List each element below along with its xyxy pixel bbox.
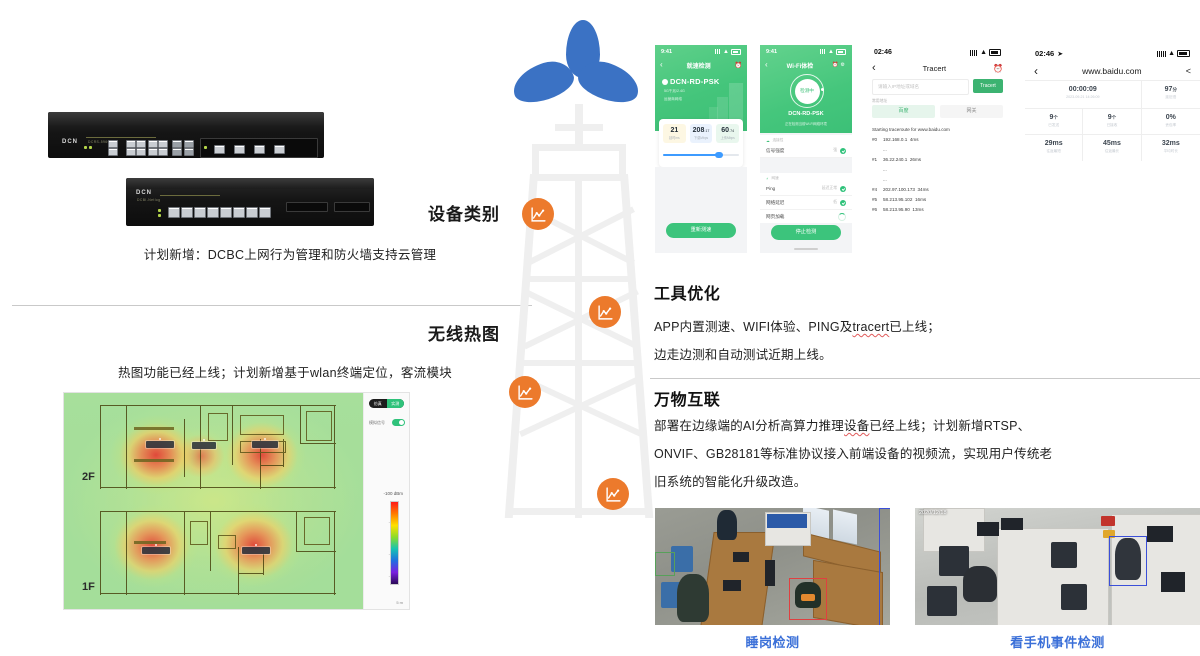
cctv-image-sleep-detection xyxy=(655,508,890,625)
iot-line1-c: 已经上线；计划新增RTSP、 xyxy=(869,419,1030,433)
ethernet-port xyxy=(168,207,180,218)
phone-ping-result: 02:46 ➤ ▲ ‹ www.baidu.com < 00:00:09 202… xyxy=(1025,45,1200,210)
wall xyxy=(300,405,301,443)
wall xyxy=(126,405,127,489)
cell-value: 32ms xyxy=(1142,140,1200,147)
status-icons: ▲ xyxy=(1157,50,1190,57)
nav-actions[interactable]: ⏰⚙ xyxy=(832,62,847,68)
result-cell-avg: 32ms 平均时长 xyxy=(1142,135,1200,161)
left-column: DCN DCRS-5960-28T DCN DCBI-Netlog xyxy=(0,0,545,656)
result-cell-sent: 9个 已发送 xyxy=(1025,109,1083,135)
status-led xyxy=(158,209,161,212)
signal-strength-legend-bar xyxy=(390,501,399,585)
furniture xyxy=(134,541,166,544)
device-top-edge xyxy=(48,112,324,126)
tools-line1-tracert: tracert xyxy=(852,320,889,334)
scan-progress-ring: 检测中 xyxy=(790,74,824,108)
wall xyxy=(100,405,101,489)
line-chart-icon xyxy=(530,206,547,223)
preset-tab-baidu[interactable]: 百度 xyxy=(872,105,935,118)
signal-bars-icon xyxy=(820,49,826,54)
result-cell-duration: 00:00:09 2023-09-21 14:26:09 xyxy=(1025,81,1142,109)
toggle-label: 模拟信号 xyxy=(369,420,385,426)
result-cell-loss: 0% 丢包率 xyxy=(1142,109,1200,135)
legend-tick: - xyxy=(389,551,390,556)
line-chart-badge xyxy=(589,296,621,328)
ethernet-port xyxy=(126,148,136,156)
detection-box-green xyxy=(655,552,675,576)
device-model-label: DCBI-Netlog xyxy=(137,198,160,202)
tracert-hop-row: #4202.97.100.173 34ms xyxy=(872,185,1003,195)
monitor xyxy=(723,580,741,591)
battery-icon xyxy=(1177,50,1190,57)
stat-card-latency: 21 延时ms xyxy=(663,124,686,143)
status-led xyxy=(89,146,92,149)
room-outline xyxy=(190,521,208,545)
poster xyxy=(767,514,807,528)
legend-max-label: -100 dBm xyxy=(383,491,403,496)
history-icon[interactable]: ⏰ xyxy=(993,64,1003,73)
gear-icon[interactable]: ⚙ xyxy=(841,62,847,68)
battery-icon xyxy=(989,49,1001,56)
row-label: 信号强度 xyxy=(766,148,784,154)
cell-sub: 已发送 xyxy=(1025,123,1082,128)
home-indicator xyxy=(794,248,818,250)
row-value: 强 xyxy=(833,148,837,153)
stat-label: 下载Mbps xyxy=(690,135,713,140)
cell-sub: 已接收 xyxy=(1083,123,1140,128)
iot-line1-a: 部署在边缘端的AI分析高算力推理 xyxy=(654,419,844,433)
status-bar: 9:41 ▲ xyxy=(760,45,852,58)
tracert-hop-row: #0192.168.0.1 4ms xyxy=(872,135,1003,145)
row-value: 延迟正常 xyxy=(822,186,837,191)
list-item[interactable]: Ping 延迟正常 xyxy=(760,182,852,196)
group-header-label: 网速 xyxy=(772,176,779,181)
detection-box-red xyxy=(789,578,827,620)
iot-section-title: 万物互联 xyxy=(654,386,720,410)
legend-tick: - xyxy=(389,573,390,578)
cell-sub: 2023-09-21 14:26:09 xyxy=(1025,95,1141,99)
stop-test-button[interactable]: 停止检测 xyxy=(771,225,841,240)
line-chart-icon xyxy=(517,384,534,401)
tracert-hop-row: #558.213.95.102 16ms xyxy=(872,195,1003,205)
tools-line1-a: APP内置测速、WIFI体验、PING及 xyxy=(654,320,852,334)
legend-tick: - xyxy=(389,519,390,524)
loading-spinner-icon xyxy=(838,213,846,221)
monitor xyxy=(1147,526,1173,542)
battery-icon xyxy=(731,49,741,55)
cctv-timestamp: 2020/12/18 xyxy=(919,510,947,516)
status-time: 9:41 xyxy=(766,49,777,55)
list-item[interactable]: 网络延迟 低 xyxy=(760,196,852,210)
row-value-group: 低 xyxy=(833,200,846,206)
cell-tower-graphic xyxy=(500,8,665,523)
signal-bars-icon xyxy=(1157,51,1166,57)
wall xyxy=(184,511,185,595)
wall xyxy=(300,443,336,444)
simulated-signal-toggle[interactable] xyxy=(392,419,405,426)
status-bar: 02:46 ➤ ▲ xyxy=(1025,45,1200,62)
group-header: ⚡ 网速 xyxy=(760,173,852,182)
row-value: 低 xyxy=(833,200,837,205)
device-top-edge xyxy=(126,178,374,189)
monitor xyxy=(1001,518,1023,530)
signal-bars-icon xyxy=(970,50,978,56)
furniture xyxy=(134,459,174,462)
line-chart-icon xyxy=(605,486,622,503)
tools-section-line-2: 边走边测和自动测试近期上线。 xyxy=(654,341,1199,369)
cell-sub: 丢包率 xyxy=(1142,123,1200,128)
nav-bar: ‹ www.baidu.com < xyxy=(1025,62,1200,80)
module-port xyxy=(274,145,285,154)
result-cell-score: 97分 延迟低 xyxy=(1142,81,1200,109)
device-divider xyxy=(160,195,220,196)
stat-card-upload: 60.74 上传Mbps xyxy=(716,124,739,143)
person xyxy=(677,574,709,622)
segment-measured[interactable]: 实测 xyxy=(387,399,405,408)
heatmap-mode-segmented-control[interactable]: 仿真 实测 xyxy=(369,399,404,408)
ap-marker xyxy=(146,441,174,448)
stat-value: 21 xyxy=(663,127,686,134)
stat-card-download: 208.17 下载Mbps xyxy=(690,124,713,143)
wall xyxy=(100,487,336,488)
ethernet-port xyxy=(158,148,168,156)
ssid-sub-1: 5G千兆/2.4G xyxy=(664,89,685,94)
ethernet-port xyxy=(181,207,193,218)
sfp-port xyxy=(184,140,194,148)
group-connectivity: ☁ 连接性 信号强度 强 xyxy=(760,135,852,158)
back-chevron-icon[interactable]: ‹ xyxy=(765,61,768,69)
monitor xyxy=(977,522,999,536)
wall xyxy=(126,511,127,595)
wifi-status-dot-icon xyxy=(662,79,668,85)
check-ok-icon xyxy=(840,200,846,206)
wall xyxy=(100,511,336,512)
office-chair xyxy=(1051,542,1077,568)
sfp-port xyxy=(184,148,194,156)
nav-title: Wi-Fi体检 xyxy=(787,61,814,70)
cell-value: 0% xyxy=(1142,114,1200,121)
connectivity-icon: ☁ xyxy=(766,139,770,143)
nav-title: www.baidu.com xyxy=(1082,66,1142,76)
list-item[interactable]: 信号强度 强 xyxy=(760,144,852,158)
group-header-label: 连接性 xyxy=(773,138,784,143)
segment-simulated[interactable]: 仿真 xyxy=(369,399,387,408)
iot-section-line-2: ONVIF、GB28181等标准协议接入前端设备的视频流，实现用户传统老 xyxy=(654,440,1199,468)
retest-button[interactable]: 重新测速 xyxy=(666,223,736,238)
sfp-port xyxy=(172,148,182,156)
simulated-signal-toggle-row[interactable]: 模拟信号 xyxy=(369,419,405,426)
tools-line1-c: 已上线； xyxy=(889,320,940,334)
ethernet-port xyxy=(158,140,168,148)
right-column: 9:41 ▲ ‹ 就速检测 ⏰ DCN-RD-PSK 5G千兆/2.4G 运营商… xyxy=(650,0,1200,656)
preset-label: 常用地址 xyxy=(865,95,1010,105)
heatmap-section-body: 热图功能已经上线；计划新增基于wlan终端定位，客流模块 xyxy=(50,362,520,381)
wall xyxy=(100,511,101,595)
room-outline xyxy=(218,535,236,549)
phone-tracert: 02:46 ▲ ‹ Tracert ⏰ 请输入IP地址或域名 Tracert 常… xyxy=(865,45,1010,253)
tracert-target-input[interactable]: 请输入IP地址或域名 xyxy=(872,79,969,95)
result-cell-max: 45ms 往返最长 xyxy=(1083,135,1141,161)
ap-marker xyxy=(242,547,270,554)
cell-sub: 延迟低 xyxy=(1142,95,1200,100)
tracert-hop-row: ... xyxy=(872,145,1003,155)
section-divider xyxy=(12,305,532,306)
result-cell-min: 29ms 往返最短 xyxy=(1025,135,1083,161)
stat-value: 60.74 xyxy=(716,127,739,134)
ssid-sub-2: 运营商网络 xyxy=(664,97,682,102)
nav-bar: ‹ 就速检测 ⏰ xyxy=(655,58,747,72)
wall xyxy=(210,511,211,571)
heatmap-section-title: 无线热图 xyxy=(200,320,500,345)
office-chair xyxy=(1061,584,1087,610)
status-led xyxy=(158,214,161,217)
tower-base xyxy=(510,508,650,515)
tower-horizontal xyxy=(524,276,632,282)
ethernet-port xyxy=(148,148,158,156)
monitor xyxy=(1161,572,1185,592)
row-value-group: 延迟正常 xyxy=(822,186,846,192)
cell-value: 97分 xyxy=(1142,86,1200,93)
row-value-group: 强 xyxy=(833,148,846,154)
status-icons: ▲ xyxy=(715,49,741,55)
wifi-icon: ▲ xyxy=(1168,51,1175,57)
wall xyxy=(260,465,284,466)
nav-title: 就速检测 xyxy=(687,61,711,70)
line-chart-badge xyxy=(597,478,629,510)
module-led xyxy=(204,146,207,149)
tracert-run-button[interactable]: Tracert xyxy=(973,79,1003,93)
device-section-body: 计划新增：DCBC上网行为管理和防火墙支持云管理 xyxy=(60,244,520,263)
ethernet-port xyxy=(136,148,146,156)
tracert-hop-row: #136.22.240.1 26ms xyxy=(872,155,1003,165)
detection-box-blue xyxy=(879,508,890,625)
speed-slider[interactable] xyxy=(663,152,739,158)
ssid-sub: 正在检测当前Wi-Fi网络环境 xyxy=(760,121,852,126)
network-switch-photo-top: DCN DCRS-5960-28T xyxy=(48,112,324,158)
signal-bars-icon xyxy=(715,49,721,54)
status-icons: ▲ xyxy=(970,49,1001,56)
floorplan-1f xyxy=(100,511,336,595)
cell-sub: 往返最短 xyxy=(1025,149,1082,154)
sfp-port xyxy=(172,140,182,148)
history-icon[interactable]: ⏰ xyxy=(832,62,840,68)
nav-title: Tracert xyxy=(923,64,946,73)
ethernet-port xyxy=(126,140,136,148)
wall xyxy=(334,511,335,595)
line-chart-icon xyxy=(597,304,614,321)
section-divider xyxy=(650,378,1200,379)
iot-section-line-1: 部署在边缘端的AI分析高算力推理设备已经上线；计划新增RTSP、 xyxy=(654,412,1199,440)
line-chart-badge xyxy=(522,198,554,230)
monitor xyxy=(733,552,749,562)
row-label: Ping xyxy=(766,186,775,191)
cell-sub: 平均时长 xyxy=(1142,149,1200,154)
caption-sleep-detection: 睡岗检测 xyxy=(655,632,890,651)
heatmap-side-panel: 仿真 实测 模拟信号 -100 dBm - - - 5 m xyxy=(363,393,409,609)
stat-value: 208.17 xyxy=(690,127,713,134)
phone-speedtest: 9:41 ▲ ‹ 就速检测 ⏰ DCN-RD-PSK 5G千兆/2.4G 运营商… xyxy=(655,45,747,253)
ap-marker xyxy=(142,547,170,554)
result-cell-received: 9个 已接收 xyxy=(1083,109,1141,135)
ethernet-port xyxy=(136,140,146,148)
ethernet-port xyxy=(108,140,118,148)
line-chart-badge xyxy=(509,376,541,408)
status-led xyxy=(84,146,87,149)
back-chevron-icon[interactable]: ‹ xyxy=(1034,67,1038,75)
location-arrow-icon: ➤ xyxy=(1057,50,1063,58)
ap-marker xyxy=(252,441,278,448)
tools-section-line-1: APP内置测速、WIFI体验、PING及tracert已上线； xyxy=(654,313,1199,341)
status-time: 9:41 xyxy=(661,49,672,55)
speed-icon: ⚡ xyxy=(766,177,769,181)
cell-value: 9个 xyxy=(1025,114,1082,121)
row-label: 网页加载 xyxy=(766,214,784,220)
cell-value: 00:00:09 xyxy=(1025,86,1141,93)
tracert-hop-row: #658.213.95.90 13ms xyxy=(872,205,1003,215)
back-chevron-icon[interactable]: ‹ xyxy=(872,64,876,72)
device-brand-label: DCN xyxy=(62,139,78,145)
floorplan-2f xyxy=(100,405,336,489)
room-outline xyxy=(208,413,228,441)
person xyxy=(717,510,737,540)
caption-phone-detection: 看手机事件检测 xyxy=(915,632,1200,651)
cell-value: 45ms xyxy=(1083,140,1140,147)
wall xyxy=(232,405,233,465)
tools-section-title: 工具优化 xyxy=(654,280,720,304)
check-ok-icon xyxy=(840,148,846,154)
phone-wifi-check: 9:41 ▲ ‹ Wi-Fi体检 ⏰⚙ 检测中 DCN-RD xyxy=(760,45,852,253)
iot-line1-device: 设备 xyxy=(844,419,869,433)
window xyxy=(833,509,857,544)
device-brand-label: DCN xyxy=(136,190,152,196)
battery-icon xyxy=(836,49,846,55)
wall xyxy=(296,551,336,552)
tracert-output: Starting traceroute for www.baidu.com #0… xyxy=(865,118,1010,215)
room-outline xyxy=(306,411,332,441)
wall xyxy=(334,405,335,489)
detection-box-blue xyxy=(1109,536,1147,586)
monitor xyxy=(765,560,775,586)
wall xyxy=(296,511,297,551)
tracert-output-header: Starting traceroute for www.baidu.com xyxy=(872,125,1003,135)
cell-sub: 往返最长 xyxy=(1083,149,1140,154)
row-value-group xyxy=(838,213,846,221)
floor-label-1f: 1F xyxy=(82,581,95,593)
office-chair xyxy=(927,586,957,616)
wall xyxy=(238,573,264,574)
tower-crossbar xyxy=(555,124,603,131)
nav-bar: ‹ Tracert ⏰ xyxy=(865,60,1010,76)
row-label: 网络延迟 xyxy=(766,200,784,206)
status-icons: ▲ xyxy=(820,49,846,55)
wifi-icon: ▲ xyxy=(723,49,729,55)
wifi-heatmap-figure: 2F 1F 仿真 实测 模拟信号 -100 dBm - - - 5 m xyxy=(63,392,410,610)
tower-horizontal xyxy=(520,360,636,366)
tracert-hop-row: ... xyxy=(872,175,1003,185)
cell-value: 29ms xyxy=(1025,140,1082,147)
back-chevron-icon[interactable]: ‹ xyxy=(660,61,663,69)
ap-marker xyxy=(192,442,216,449)
module-port xyxy=(234,145,245,154)
preset-tab-gateway[interactable]: 网关 xyxy=(940,105,1003,118)
stat-label: 上传Mbps xyxy=(716,135,739,140)
map-scale-label: 5 m xyxy=(396,600,403,605)
furniture xyxy=(134,427,174,430)
wall xyxy=(184,419,185,477)
tower-center-post xyxy=(575,174,582,518)
cell-value: 9个 xyxy=(1083,114,1140,121)
tower-platform-top xyxy=(532,144,626,151)
iot-section-line-3: 旧系统的智能化升级改造。 xyxy=(654,468,1199,496)
nav-bar: ‹ Wi-Fi体检 ⏰⚙ xyxy=(760,58,852,72)
ethernet-port xyxy=(108,148,118,156)
share-icon[interactable]: < xyxy=(1186,66,1191,76)
wall xyxy=(238,547,239,595)
wifi-icon: ▲ xyxy=(828,49,834,55)
module-port xyxy=(214,145,225,154)
device-section-title: 设备类别 xyxy=(200,200,500,225)
cctv-image-phone-detection: 2020/12/18 xyxy=(915,508,1200,625)
stat-label: 延时ms xyxy=(663,135,686,140)
device-divider xyxy=(86,137,156,138)
object-red xyxy=(1101,516,1115,526)
status-bar: 9:41 ▲ xyxy=(655,45,747,58)
ethernet-port xyxy=(148,140,158,148)
group-header: ☁ 连接性 xyxy=(760,135,852,144)
slider-thumb[interactable] xyxy=(715,152,723,158)
person xyxy=(963,566,997,602)
history-icon[interactable]: ⏰ xyxy=(735,62,742,69)
module-port xyxy=(254,145,265,154)
connected-ssid: DCN-RD-PSK xyxy=(760,111,852,117)
floor-label-2f: 2F xyxy=(82,471,95,483)
status-bar: 02:46 ▲ xyxy=(865,45,1010,60)
room-outline xyxy=(240,415,284,435)
connected-ssid: DCN-RD-PSK xyxy=(670,77,720,86)
tracert-input-placeholder: 请输入IP地址或域名 xyxy=(878,84,919,90)
group-speed: ⚡ 网速 Ping 延迟正常 网络延迟 低 网页加载 xyxy=(760,173,852,223)
status-time: 02:46 xyxy=(874,49,892,56)
list-item[interactable]: 网页加载 xyxy=(760,210,852,223)
wall xyxy=(100,593,336,594)
scan-status-text: 检测中 xyxy=(800,88,814,94)
check-ok-icon xyxy=(840,186,846,192)
room-outline xyxy=(304,517,330,545)
wifi-icon: ▲ xyxy=(980,50,987,56)
tracert-hop-row: ... xyxy=(872,165,1003,175)
status-time: 02:46 xyxy=(1035,49,1054,58)
